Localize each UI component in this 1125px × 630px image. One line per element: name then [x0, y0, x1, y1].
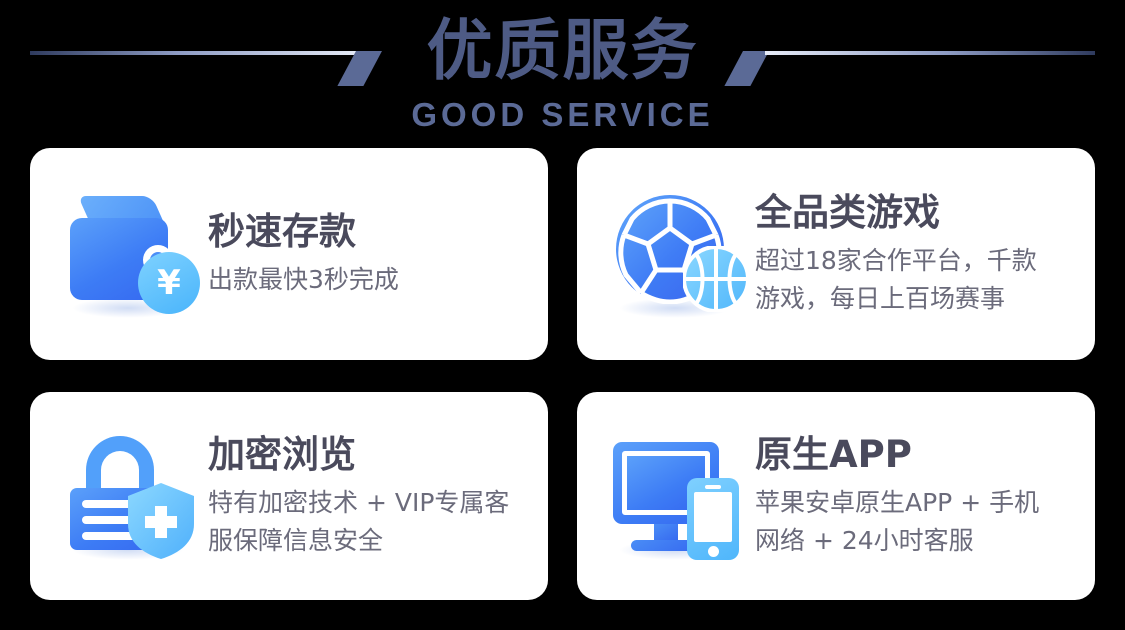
card-text-block: 秒速存款 出款最快3秒完成: [208, 210, 522, 299]
phone-speaker: [705, 485, 721, 489]
card-text-block: 全品类游戏 超过18家合作平台，千款 游戏，每日上百场赛事: [755, 191, 1069, 318]
phone-home-button: [708, 546, 719, 557]
feature-card-encryption[interactable]: 加密浏览 特有加密技术 + VIP专属客 服保障信息安全: [30, 392, 548, 600]
shield-plus-icon: [126, 482, 196, 560]
card-desc-line: 出款最快3秒完成: [208, 261, 522, 299]
card-desc-line: 特有加密技术 + VIP专属客: [208, 484, 522, 522]
card-desc-line: 游戏，每日上百场赛事: [755, 280, 1069, 318]
yen-symbol: ¥: [157, 266, 181, 300]
feature-card-native-app[interactable]: 原生APP 苹果安卓原生APP + 手机 网络 + 24小时客服: [577, 392, 1095, 600]
card-title: 原生APP: [755, 433, 1069, 477]
yen-coin-icon: ¥: [138, 252, 200, 314]
card-text-block: 原生APP 苹果安卓原生APP + 手机 网络 + 24小时客服: [755, 433, 1069, 560]
page-subtitle: GOOD SERVICE: [0, 96, 1125, 134]
card-desc-line: 服保障信息安全: [208, 522, 522, 560]
lock-shield-icon: [60, 430, 208, 562]
feature-card-grid: ¥ 秒速存款 出款最快3秒完成: [30, 148, 1095, 600]
wallet-icon: ¥: [60, 188, 208, 320]
card-title: 秒速存款: [208, 210, 522, 254]
feature-card-deposit[interactable]: ¥ 秒速存款 出款最快3秒完成: [30, 148, 548, 360]
feature-card-games[interactable]: 全品类游戏 超过18家合作平台，千款 游戏，每日上百场赛事: [577, 148, 1095, 360]
card-desc-line: 苹果安卓原生APP + 手机: [755, 484, 1069, 522]
phone-screen: [694, 492, 732, 542]
basketball-icon: [683, 246, 749, 312]
card-text-block: 加密浏览 特有加密技术 + VIP专属客 服保障信息安全: [208, 433, 522, 560]
card-desc-line: 网络 + 24小时客服: [755, 522, 1069, 560]
card-desc-line: 超过18家合作平台，千款: [755, 242, 1069, 280]
card-title: 加密浏览: [208, 433, 522, 477]
monitor-phone-icon: [607, 430, 755, 562]
page-title: 优质服务: [0, 14, 1125, 88]
soccer-basketball-icon: [607, 188, 755, 320]
phone-icon: [687, 478, 739, 560]
card-title: 全品类游戏: [755, 191, 1069, 235]
page-header: 优质服务 GOOD SERVICE: [0, 0, 1125, 140]
